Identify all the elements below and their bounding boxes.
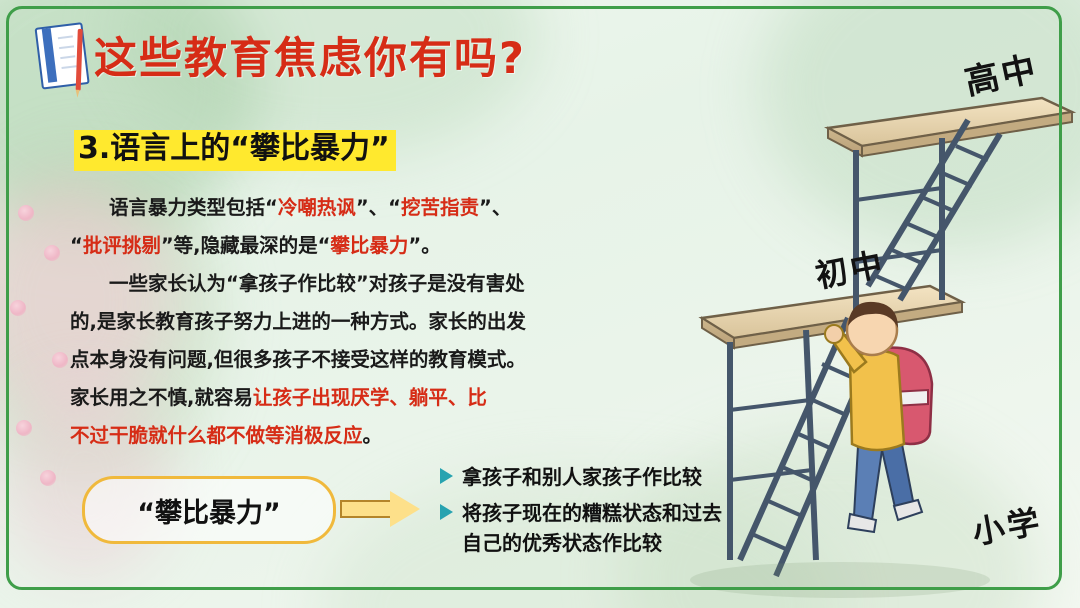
platform-senior bbox=[828, 98, 1072, 156]
body-line-4: 的,是家长教育孩子努力上进的一种方式。家长的出发 bbox=[70, 304, 570, 340]
bullet-label: 拿孩子和别人家孩子作比较 bbox=[462, 462, 702, 492]
body-7-b: 。 bbox=[363, 424, 383, 447]
support-braces bbox=[730, 188, 942, 480]
body-line-7: 不过干脆就什么都不做等消极反应。 bbox=[70, 418, 570, 454]
body-line-5: 点本身没有问题,但很多孩子不接受这样的教育模式。 bbox=[70, 342, 570, 378]
callout-badge: “攀比暴力” bbox=[82, 476, 336, 544]
ladder-upper-rungs bbox=[876, 146, 988, 290]
arrow-right-icon bbox=[340, 492, 424, 526]
section-subtitle-wrap: 3.语言上的“攀比暴力” bbox=[74, 130, 396, 171]
student-figure bbox=[825, 302, 932, 532]
body-1-red-2: 挖苦指责 bbox=[401, 196, 479, 219]
blossom-icon bbox=[10, 300, 26, 316]
body-text-block: 语言暴力类型包括“冷嘲热讽”、“挖苦指责”、 “批评挑剔”等,隐藏最深的是“攀比… bbox=[70, 190, 570, 456]
body-2-red-2: 攀比暴力 bbox=[330, 234, 408, 257]
blossom-icon bbox=[52, 352, 68, 368]
bullet-list: 拿孩子和别人家孩子作比较 将孩子现在的糟糕状态和过去自己的优秀状态作比较 bbox=[440, 462, 770, 564]
blossom-icon bbox=[40, 470, 56, 486]
bullet-label: 将孩子现在的糟糕状态和过去自己的优秀状态作比较 bbox=[462, 498, 722, 558]
body-line-6: 家长用之不慎,就容易让孩子出现厌学、躺平、比 bbox=[70, 380, 570, 416]
ladder-upper bbox=[868, 120, 1000, 300]
blossom-icon bbox=[18, 205, 34, 221]
body-line-2: “批评挑剔”等,隐藏最深的是“攀比暴力”。 bbox=[70, 228, 570, 264]
label-primary-school: 小学 bbox=[969, 496, 1046, 553]
body-1-a: 语言暴力类型包括“ bbox=[109, 196, 278, 219]
list-item: 拿孩子和别人家孩子作比较 bbox=[440, 462, 770, 492]
blossom-icon bbox=[44, 245, 60, 261]
list-item: 将孩子现在的糟糕状态和过去自己的优秀状态作比较 bbox=[440, 498, 770, 558]
body-2-red-1: 批评挑剔 bbox=[83, 234, 161, 257]
slide-canvas: 高中 初中 小学 这些教育焦虑你有吗? 3.语言上的“攀比暴力” 语言暴力类型包… bbox=[0, 0, 1080, 608]
body-line-1: 语言暴力类型包括“冷嘲热讽”、“挖苦指责”、 bbox=[70, 190, 570, 226]
body-1-red-1: 冷嘲热讽 bbox=[278, 196, 356, 219]
bullet-label-line-1: 将孩子现在的糟糕状态和过去 bbox=[462, 501, 722, 525]
page-title: 这些教育焦虑你有吗? bbox=[94, 24, 526, 86]
ladder-lower-rungs bbox=[752, 332, 872, 550]
notebook-icon bbox=[35, 22, 88, 87]
section-subtitle: 3.语言上的“攀比暴力” bbox=[74, 130, 396, 171]
body-2-a: “ bbox=[70, 234, 83, 257]
body-7-red: 不过干脆就什么都不做等消极反应 bbox=[70, 424, 363, 447]
blossom-icon bbox=[16, 420, 32, 436]
triangle-bullet-icon bbox=[440, 468, 453, 484]
background-wash bbox=[760, 0, 1080, 250]
body-1-b: ”、“ bbox=[356, 196, 401, 219]
body-2-b: ”等,隐藏最深的是“ bbox=[161, 234, 331, 257]
body-1-c: ”、 bbox=[479, 196, 511, 219]
bullet-label-line-2: 自己的优秀状态作比较 bbox=[462, 531, 662, 555]
platform-junior bbox=[702, 286, 962, 348]
callout-label: “攀比暴力” bbox=[137, 491, 281, 530]
slide-header: 这些教育焦虑你有吗? bbox=[38, 24, 526, 86]
body-6-a: 家长用之不慎,就容易 bbox=[70, 386, 253, 409]
label-junior-high: 初中 bbox=[811, 239, 889, 298]
ground-shadow bbox=[690, 562, 990, 598]
body-6-red: 让孩子出现厌学、躺平、比 bbox=[253, 386, 487, 409]
label-senior-high: 高中 bbox=[960, 41, 1043, 104]
body-line-3: 一些家长认为“拿孩子作比较”对孩子是没有害处 bbox=[70, 266, 570, 302]
triangle-bullet-icon bbox=[440, 504, 453, 520]
body-2-c: ”。 bbox=[408, 234, 440, 257]
